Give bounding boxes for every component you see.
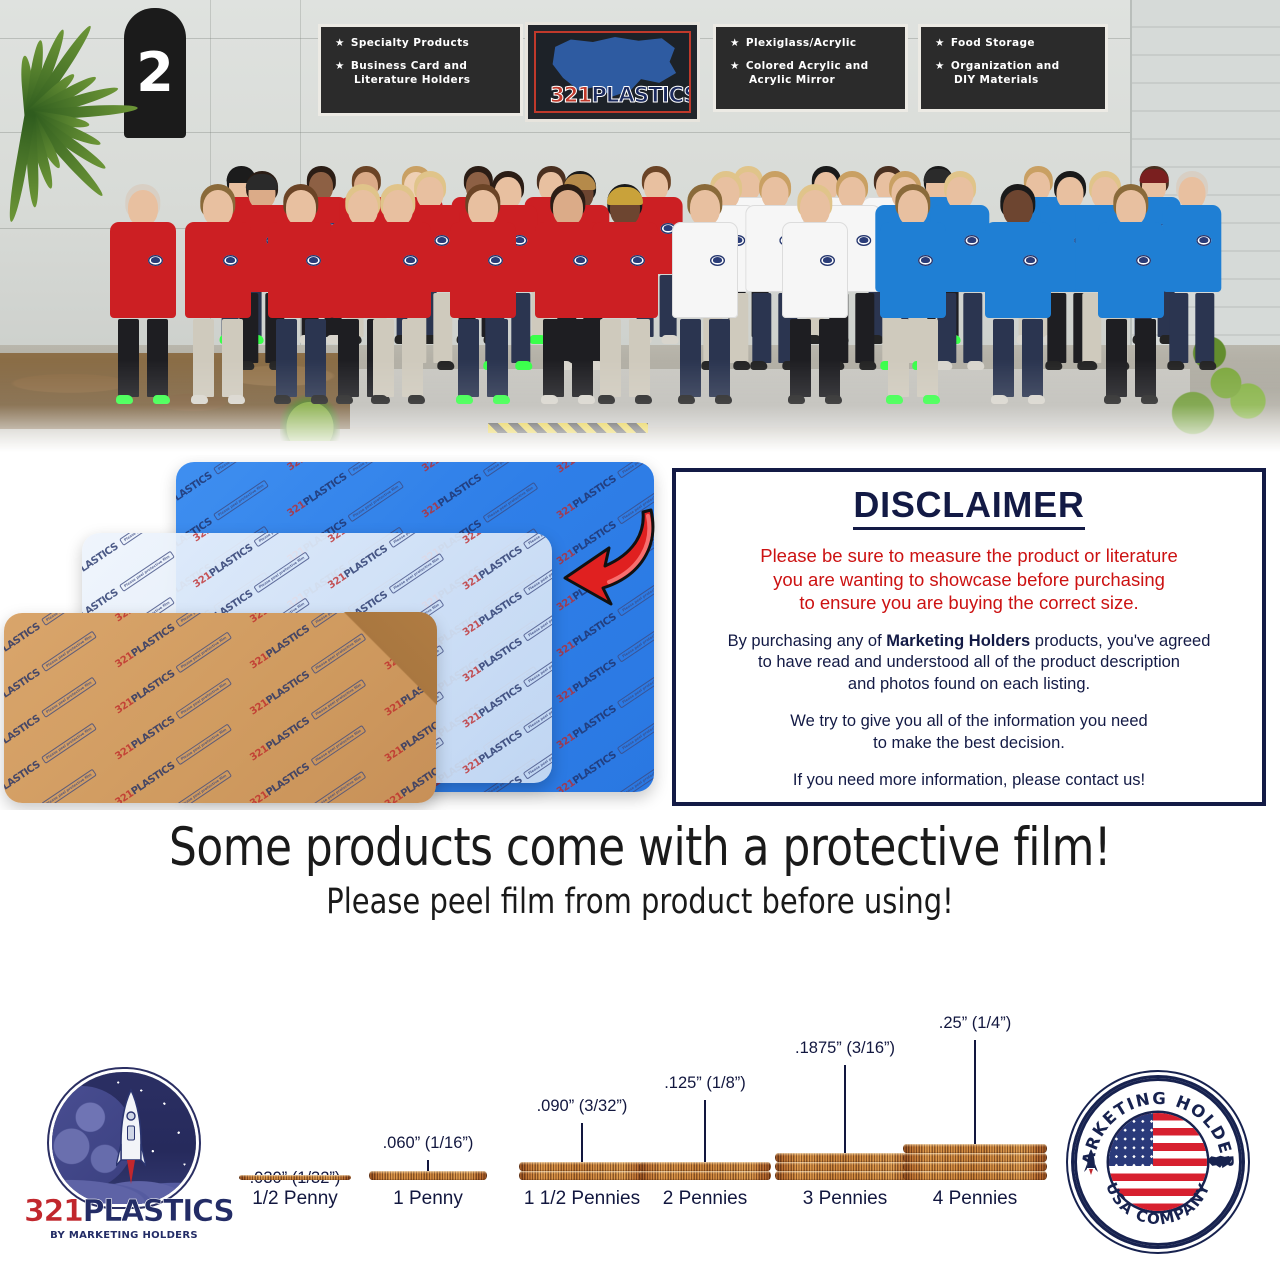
- penny-coin: [903, 1144, 1047, 1153]
- paragraph-line: to have read and understood all of the p…: [728, 652, 1211, 673]
- sign-line: Colored Acrylic and: [746, 60, 869, 72]
- brand-name: Marketing Holders: [886, 632, 1030, 650]
- face: [553, 190, 583, 226]
- leg: [680, 319, 701, 397]
- paragraph-line: and photos found on each listing.: [728, 674, 1211, 695]
- star-icon: ★: [730, 37, 740, 49]
- shirt: [782, 222, 848, 318]
- shoe: [967, 361, 984, 370]
- shoe: [493, 395, 510, 404]
- leg: [458, 319, 479, 397]
- logo-tagline: BY MARKETING HOLDERS: [24, 1230, 224, 1241]
- penny-stack: [639, 1162, 771, 1180]
- shirt: [365, 222, 431, 318]
- penny-coin: [239, 1175, 351, 1180]
- leg: [963, 293, 982, 363]
- leg: [1195, 293, 1214, 363]
- logo-patch: [573, 255, 588, 266]
- team-member: [672, 187, 738, 397]
- shoe: [274, 395, 291, 404]
- leg: [993, 319, 1014, 397]
- leg: [118, 319, 139, 397]
- shoe: [1167, 361, 1184, 370]
- penny-coin: [903, 1162, 1047, 1171]
- legs: [782, 319, 848, 397]
- team-member: [1098, 187, 1164, 397]
- penny-column: .1875” (3/16”)3 Pennies: [780, 984, 910, 1210]
- warning-line: to ensure you are buying the correct siz…: [760, 591, 1178, 615]
- legs: [110, 319, 176, 397]
- window-sign-specialty-products: ★Specialty Products ★Business Card and L…: [318, 24, 523, 116]
- shoe: [1028, 395, 1045, 404]
- team-member: [450, 187, 516, 397]
- leg: [1135, 319, 1156, 397]
- shirt: [268, 222, 334, 318]
- legs: [1162, 293, 1221, 363]
- palm-plant: [0, 30, 100, 360]
- shoe: [408, 395, 425, 404]
- shoe: [1141, 395, 1158, 404]
- globe-stars-graphic: [52, 1072, 196, 1204]
- leg: [572, 319, 593, 397]
- logo-patch: [488, 255, 503, 266]
- shoe: [598, 395, 615, 404]
- logo-patch: [856, 235, 871, 246]
- shoe: [541, 395, 558, 404]
- logo-marketing-holders[interactable]: MARKETING HOLDERS USA COMPANY: [1068, 1078, 1252, 1246]
- sign-line: Acrylic Mirror: [749, 74, 893, 88]
- leg: [193, 319, 214, 397]
- shoe: [311, 395, 328, 404]
- logo-wordmark: 321PLASTICS: [24, 1197, 224, 1227]
- shoe: [153, 395, 170, 404]
- penny-stack: [369, 1171, 487, 1180]
- shirt: [880, 222, 946, 318]
- legs: [365, 319, 431, 397]
- leg: [752, 293, 771, 363]
- leg: [222, 319, 243, 397]
- face: [468, 190, 498, 226]
- legs: [592, 319, 658, 397]
- legs: [672, 319, 738, 397]
- penny-coin: [519, 1171, 645, 1180]
- penny-coin: [775, 1153, 915, 1162]
- shoe: [859, 361, 876, 370]
- team-member: [985, 187, 1051, 397]
- sign-line: Food Storage: [951, 37, 1035, 49]
- penny-count-label: 1 1/2 Pennies: [524, 1188, 640, 1210]
- logo-patch: [223, 255, 238, 266]
- headline-block: Some products come with a protective fil…: [0, 820, 1280, 920]
- shoe: [991, 395, 1008, 404]
- disclaimer-box: DISCLAIMER Please be sure to measure the…: [672, 468, 1266, 806]
- penny-thickness-label: .1875” (3/16”): [795, 1039, 895, 1058]
- leg: [917, 319, 938, 397]
- team-member: [880, 187, 946, 397]
- leg: [629, 319, 650, 397]
- penny-count-label: 1 Penny: [393, 1188, 463, 1210]
- headline-primary: Some products come with a protective fil…: [51, 820, 1229, 876]
- shirt: [985, 222, 1051, 318]
- leg: [790, 319, 811, 397]
- logo-word: PLASTICS: [83, 1194, 234, 1229]
- penny-count-label: 1/2 Penny: [252, 1188, 338, 1210]
- leg: [338, 319, 359, 397]
- shoe: [1080, 361, 1097, 370]
- rocket-icon: [116, 1088, 146, 1188]
- shoe: [750, 361, 767, 370]
- leg: [305, 319, 326, 397]
- face: [203, 190, 233, 226]
- shoe: [788, 395, 805, 404]
- logo-patch: [630, 255, 645, 266]
- leg: [819, 319, 840, 397]
- window-sign-plexiglass: ★Plexiglass/Acrylic ★Colored Acrylic and…: [713, 24, 908, 112]
- star-icon: ★: [335, 37, 345, 49]
- team-member: [1162, 174, 1221, 363]
- leg: [709, 319, 730, 397]
- svg-text:USA COMPANY: USA COMPANY: [1102, 1180, 1214, 1229]
- shoe: [1199, 361, 1216, 370]
- disclaimer-paragraph-2: We try to give you all of the informatio…: [790, 711, 1147, 754]
- leader-line: [427, 1160, 429, 1171]
- team-member: [592, 187, 658, 397]
- shirt: [185, 222, 251, 318]
- logo-patch: [710, 255, 725, 266]
- leg: [1169, 293, 1188, 363]
- logo-patch: [434, 235, 449, 246]
- leader-line: [581, 1123, 583, 1162]
- shirt: [1098, 222, 1164, 318]
- curb-stripe: [488, 423, 648, 433]
- paragraph-line: to make the best decision.: [790, 733, 1147, 754]
- leg: [600, 319, 621, 397]
- leg: [487, 319, 508, 397]
- penny-thickness-label: .060” (1/16”): [383, 1134, 474, 1153]
- sign-line: Business Card and: [351, 60, 467, 72]
- window-poster-321plastics: 321PLASTICS: [525, 22, 700, 122]
- face: [1003, 190, 1033, 226]
- face: [690, 190, 720, 226]
- face: [898, 190, 928, 226]
- poster-brand-logo: 321PLASTICS: [550, 83, 691, 107]
- leg: [888, 319, 909, 397]
- penny-count-label: 4 Pennies: [933, 1188, 1018, 1210]
- leader-line: [974, 1040, 976, 1144]
- penny-column: .125” (1/8”)2 Pennies: [640, 984, 770, 1210]
- face: [286, 190, 316, 226]
- penny-stack: [519, 1162, 645, 1180]
- shoe: [923, 395, 940, 404]
- team-member: [185, 187, 251, 397]
- shirt: [672, 222, 738, 318]
- logo-321plastics[interactable]: 321PLASTICS BY MARKETING HOLDERS: [24, 1072, 224, 1247]
- penny-column: .060” (1/16”)1 Penny: [363, 984, 493, 1210]
- team-member: [268, 187, 334, 397]
- leg: [373, 319, 394, 397]
- legs: [185, 319, 251, 397]
- sign-line: DIY Materials: [954, 74, 1093, 88]
- legs: [450, 319, 516, 397]
- legs: [1098, 319, 1164, 397]
- shirt: [1162, 205, 1221, 291]
- building-number-sign: 2: [124, 8, 186, 138]
- leg: [1022, 319, 1043, 397]
- penny-column: .090” (3/32”)1 1/2 Pennies: [517, 984, 647, 1210]
- penny-thickness-label: .125” (1/8”): [664, 1074, 746, 1093]
- leg: [855, 293, 874, 363]
- warning-line: Please be sure to measure the product or…: [760, 544, 1178, 568]
- star-icon: ★: [935, 60, 945, 72]
- disclaimer-title: DISCLAIMER: [853, 484, 1084, 530]
- logo-patch: [1023, 255, 1038, 266]
- penny-coin: [519, 1162, 645, 1171]
- shoe: [191, 395, 208, 404]
- disclaimer-paragraph-3: If you need more information, please con…: [793, 770, 1145, 791]
- paragraph-line: We try to give you all of the informatio…: [790, 711, 1147, 732]
- headline-secondary: Please peel film from product before usi…: [51, 884, 1229, 921]
- logo-patch: [148, 255, 163, 266]
- penny-stack: [239, 1175, 351, 1180]
- window-sign-food-storage: ★Food Storage ★Organization and DIY Mate…: [918, 24, 1108, 112]
- penny-thickness-label: .25” (1/4”): [939, 1014, 1011, 1033]
- shoe: [515, 361, 532, 370]
- amber-acrylic-sheet: 321PLASTICSPlease peel protective film32…: [4, 613, 436, 803]
- sign-line: Plexiglass/Acrylic: [746, 37, 857, 49]
- shoe: [228, 395, 245, 404]
- shirt: [110, 222, 176, 318]
- leg: [276, 319, 297, 397]
- shoe: [715, 395, 732, 404]
- logo-patch: [918, 255, 933, 266]
- penny-coin: [775, 1162, 915, 1171]
- team-member: [782, 187, 848, 397]
- penny-stack: [775, 1153, 915, 1180]
- sign-line: Organization and: [951, 60, 1060, 72]
- paragraph-line: If you need more information, please con…: [793, 770, 1145, 791]
- star-icon: ★: [730, 60, 740, 72]
- face: [128, 190, 158, 226]
- leader-line: [844, 1065, 846, 1153]
- shirt: [592, 222, 658, 318]
- leg: [402, 319, 423, 397]
- logo-patch: [820, 255, 835, 266]
- leg: [147, 319, 168, 397]
- leader-line: [704, 1100, 706, 1162]
- paragraph-line: By purchasing any of Marketing Holders p…: [728, 631, 1211, 652]
- peel-arrow: [555, 492, 675, 627]
- face: [1116, 190, 1146, 226]
- logo-patch: [403, 255, 418, 266]
- shirt: [450, 222, 516, 318]
- seal-text: MARKETING HOLDERS USA COMPANY: [1074, 1078, 1242, 1246]
- logo-patch: [306, 255, 321, 266]
- penny-coin: [639, 1162, 771, 1171]
- disclaimer-warning: Please be sure to measure the product or…: [760, 544, 1178, 615]
- logo-patch: [964, 235, 979, 246]
- penny-coin: [903, 1171, 1047, 1180]
- leg: [543, 319, 564, 397]
- penny-coin: [369, 1171, 487, 1180]
- team-photo: 2 ★Specialty Products ★Business Card and…: [0, 0, 1280, 455]
- shoe: [116, 395, 133, 404]
- sign-line: Specialty Products: [351, 37, 469, 49]
- penny-column: .25” (1/4”)4 Pennies: [910, 984, 1040, 1210]
- logo-patch: [1196, 235, 1211, 246]
- star-icon: ★: [935, 37, 945, 49]
- building-number: 2: [136, 46, 174, 100]
- svg-text:MARKETING HOLDERS: MARKETING HOLDERS: [1074, 1078, 1237, 1170]
- penny-coin: [639, 1171, 771, 1180]
- penny-thickness-label: .090” (3/32”): [537, 1097, 628, 1116]
- team-member: [365, 187, 431, 397]
- peeled-film-corner: [341, 612, 437, 708]
- face: [383, 190, 413, 226]
- shoe: [678, 395, 695, 404]
- shoe: [886, 395, 903, 404]
- warning-line: you are wanting to showcase before purch…: [760, 568, 1178, 592]
- logo-patch: [1136, 255, 1151, 266]
- star-icon: ★: [335, 60, 345, 72]
- face: [800, 190, 830, 226]
- sign-line: Literature Holders: [354, 74, 508, 88]
- shoe: [456, 395, 473, 404]
- penny-stack: [903, 1144, 1047, 1180]
- disclaimer-paragraph-1: By purchasing any of Marketing Holders p…: [728, 631, 1211, 695]
- penny-column: .030” (1/32”)1/2 Penny: [230, 984, 360, 1210]
- shoe: [371, 395, 388, 404]
- penny-coin: [903, 1153, 1047, 1162]
- team-member: [110, 187, 176, 397]
- legs: [268, 319, 334, 397]
- logo-num: 321: [24, 1194, 83, 1229]
- penny-coin: [775, 1171, 915, 1180]
- penny-count-label: 3 Pennies: [803, 1188, 888, 1210]
- shoe: [635, 395, 652, 404]
- shoe: [336, 395, 353, 404]
- penny-count-label: 2 Pennies: [663, 1188, 748, 1210]
- legs: [985, 319, 1051, 397]
- shoe: [1104, 395, 1121, 404]
- legs: [880, 319, 946, 397]
- shoe: [825, 395, 842, 404]
- leg: [1106, 319, 1127, 397]
